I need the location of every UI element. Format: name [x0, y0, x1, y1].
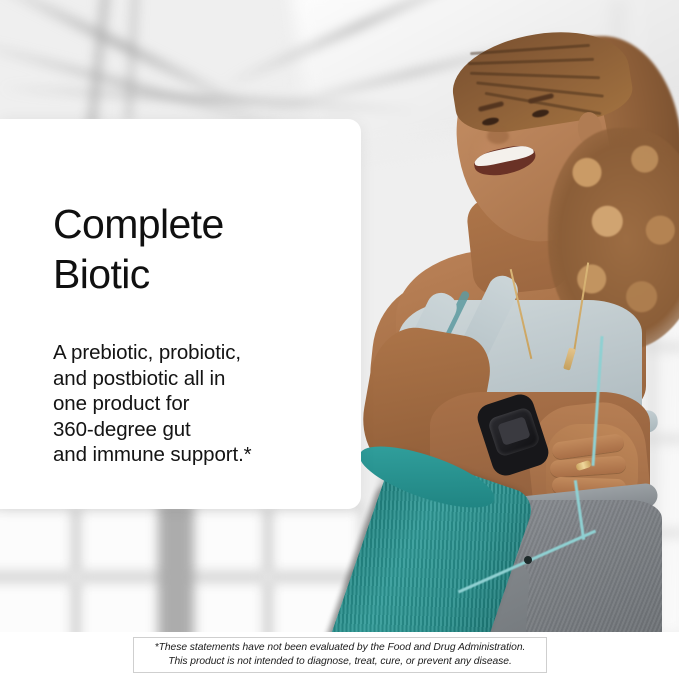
product-description: A prebiotic, probiotic, and postbiotic a…	[53, 340, 343, 468]
card-content: Complete Biotic A prebiotic, probiotic, …	[53, 199, 343, 468]
disclaimer-line-1: *These statements have not been evaluate…	[155, 641, 526, 655]
hero-photo: Complete Biotic A prebiotic, probiotic, …	[0, 0, 679, 632]
product-headline: Complete Biotic	[53, 199, 343, 299]
disclaimer-line-2: This product is not intended to diagnose…	[168, 655, 512, 669]
yoga-mat-strap-knot	[524, 556, 532, 564]
nose	[487, 128, 509, 144]
text-card: Complete Biotic A prebiotic, probiotic, …	[0, 119, 361, 509]
disclaimer-box: *These statements have not been evaluate…	[133, 637, 547, 673]
disclaimer-band: *These statements have not been evaluate…	[0, 632, 679, 675]
product-banner: Complete Biotic A prebiotic, probiotic, …	[0, 0, 679, 675]
